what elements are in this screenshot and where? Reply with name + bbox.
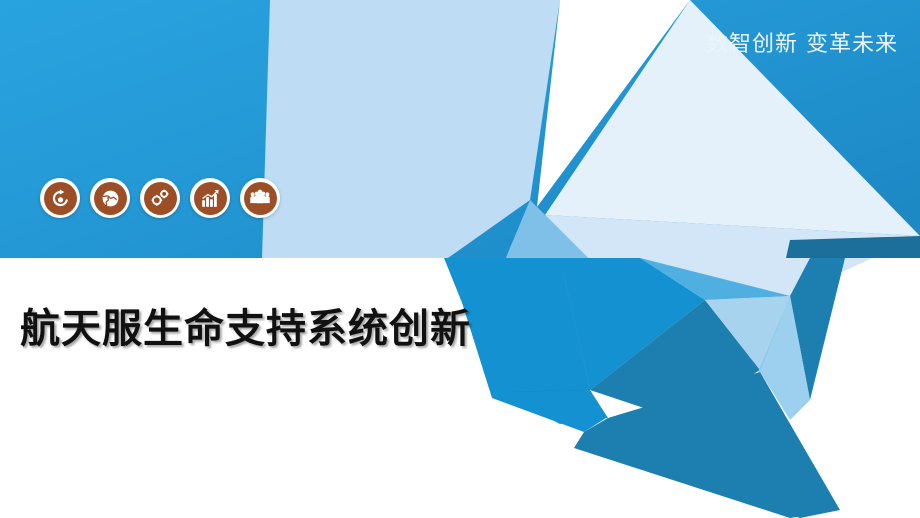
icon-strip (40, 178, 280, 218)
slide-tagline: 数智创新 变革未来 (706, 26, 898, 58)
icon-badge-people-group[interactable] (240, 178, 280, 218)
icon-badge-bar-chart-growth[interactable] (190, 178, 230, 218)
globe-icon (100, 188, 121, 209)
people-group-icon (249, 187, 271, 209)
icon-disc (144, 182, 177, 215)
icon-badge-refresh-cycle[interactable] (40, 178, 80, 218)
gears-icon (149, 187, 171, 209)
icon-disc (44, 182, 77, 215)
icon-badge-globe[interactable] (90, 178, 130, 218)
icon-disc (244, 182, 277, 215)
page-title: 航天服生命支持系统创新 (20, 296, 471, 354)
polygon-artwork (0, 0, 920, 518)
refresh-cycle-icon (50, 188, 71, 209)
icon-disc (94, 182, 127, 215)
icon-disc (194, 182, 227, 215)
presentation-slide: 数智创新 变革未来 (0, 0, 920, 518)
bar-chart-growth-icon (200, 188, 221, 209)
icon-badge-gears[interactable] (140, 178, 180, 218)
